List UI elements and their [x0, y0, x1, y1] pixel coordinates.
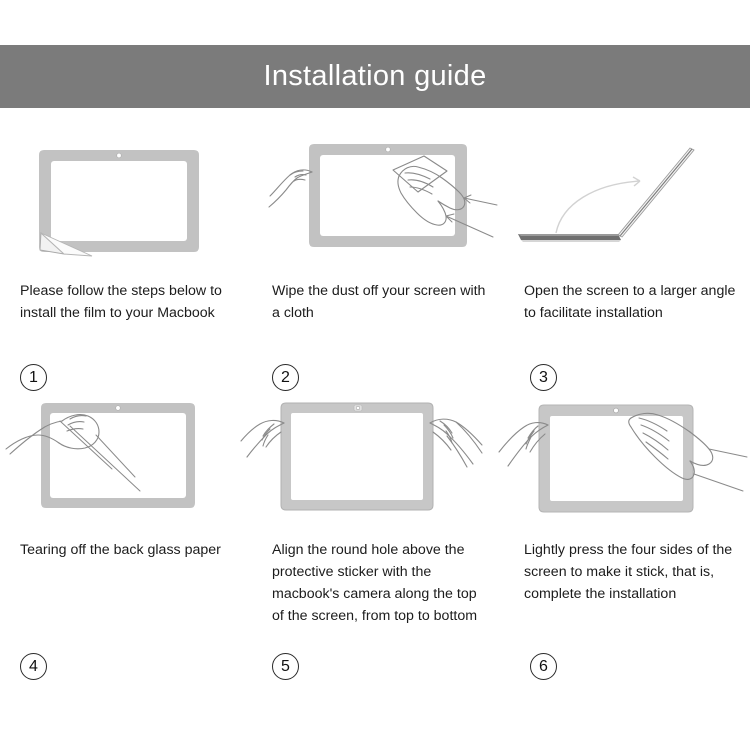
step-number-badge: 2: [272, 364, 299, 391]
step-number-badge: 5: [272, 653, 299, 680]
step-5-number-wrap: 5: [250, 653, 500, 680]
steps-row-bottom: Tearing off the back glass paper 4: [0, 391, 750, 680]
right-hand-icon: [430, 419, 482, 467]
step-4-caption: Tearing off the back glass paper: [0, 521, 250, 651]
screen-frame-icon: [309, 144, 467, 247]
step-4-illustration: [0, 391, 250, 521]
page-title: Installation guide: [263, 62, 486, 91]
steps-grid: Please follow the steps below to install…: [0, 130, 750, 680]
step-6-illustration: [500, 391, 750, 521]
step-5-illustration: [250, 391, 500, 521]
step-card-6: Lightly press the four sides of the scre…: [500, 391, 750, 680]
step-number-badge: 3: [530, 364, 557, 391]
step-1-number-wrap: 1: [0, 364, 250, 391]
step-3-caption: Open the screen to a larger angle to fac…: [500, 260, 750, 362]
left-hand-icon: [269, 170, 312, 207]
steps-row-top: Please follow the steps below to install…: [0, 130, 750, 391]
step-6-number-wrap: 6: [500, 653, 750, 680]
step-1-illustration: [0, 130, 250, 260]
step-card-5: Align the round hole above the protectiv…: [250, 391, 500, 680]
step-3-illustration: [500, 130, 750, 260]
step-2-illustration: [250, 130, 500, 260]
step-number-badge: 4: [20, 653, 47, 680]
screen-frame-icon: [539, 405, 693, 512]
header-banner: Installation guide: [0, 45, 750, 108]
screen-frame-icon: [41, 403, 195, 508]
screen-frame-icon: [39, 150, 199, 252]
step-card-3: Open the screen to a larger angle to fac…: [500, 130, 750, 391]
step-4-number-wrap: 4: [0, 653, 250, 680]
step-number-badge: 1: [20, 364, 47, 391]
step-1-caption: Please follow the steps below to install…: [0, 260, 250, 362]
screen-frame-icon: [281, 403, 433, 510]
step-2-caption: Wipe the dust off your screen with a clo…: [250, 260, 500, 362]
laptop-side-profile-icon: [518, 148, 694, 242]
step-number-badge: 6: [530, 653, 557, 680]
step-3-number-wrap: 3: [500, 364, 750, 391]
step-card-1: Please follow the steps below to install…: [0, 130, 250, 391]
step-card-2: Wipe the dust off your screen with a clo…: [250, 130, 500, 391]
step-2-number-wrap: 2: [250, 364, 500, 391]
step-5-caption: Align the round hole above the protectiv…: [250, 521, 500, 651]
step-card-4: Tearing off the back glass paper 4: [0, 391, 250, 680]
step-6-caption: Lightly press the four sides of the scre…: [500, 521, 750, 651]
